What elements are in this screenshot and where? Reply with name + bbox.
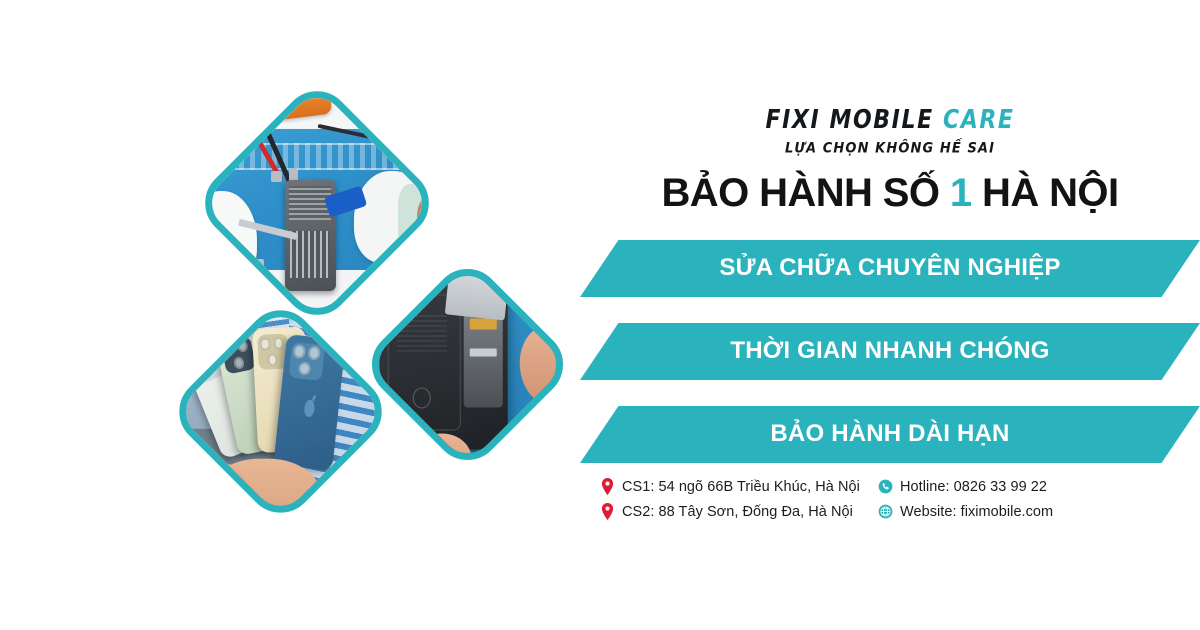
photo-repair-bench-image — [201, 87, 433, 319]
page-title-part2: HÀ NỘI — [972, 171, 1119, 215]
feature-banner-repair-label: SỬA CHỮA CHUYÊN NGHIỆP — [719, 254, 1060, 284]
feature-banner-speed-label: THỜI GIAN NHANH CHÓNG — [730, 337, 1049, 367]
feature-banner-speed[interactable]: THỜI GIAN NHANH CHÓNG — [580, 323, 1200, 380]
contact-website-text: Website: fiximobile.com — [900, 504, 1053, 520]
map-pin-icon — [600, 503, 615, 520]
brand-tagline: LỰA CHỌN KHÔNG HỀ SAI — [580, 140, 1200, 157]
page-title-number: 1 — [950, 171, 972, 215]
photo-open-iphone — [358, 255, 577, 474]
feature-banner-warranty-label: BẢO HÀNH DÀI HẠN — [770, 420, 1009, 450]
feature-banner-repair[interactable]: SỬA CHỮA CHUYÊN NGHIỆP — [580, 240, 1200, 297]
brand-logo-main: FIXI MOBILE CARE — [580, 108, 1200, 134]
photo-open-iphone-image — [368, 265, 568, 465]
contact-address-2-text: CS2: 88 Tây Sơn, Đống Đa, Hà Nội — [622, 504, 853, 520]
brand-logo-name: FIXI MOBILE — [765, 106, 942, 136]
page-title: BẢO HÀNH SỐ 1 HÀ NỘI — [580, 172, 1200, 214]
contact-address-1: CS1: 54 ngõ 66B Triều Khúc, Hà Nội — [600, 478, 878, 495]
photo-back-glass-panels-image — [175, 306, 386, 517]
content-panel: FIXI MOBILE CARE LỰA CHỌN KHÔNG HỀ SAI B… — [580, 0, 1200, 630]
contact-address-2: CS2: 88 Tây Sơn, Đống Đa, Hà Nội — [600, 503, 878, 520]
contact-address-1-text: CS1: 54 ngõ 66B Triều Khúc, Hà Nội — [622, 479, 860, 495]
photo-collage — [0, 0, 600, 630]
contact-website[interactable]: Website: fiximobile.com — [878, 503, 1200, 520]
page-title-part1: BẢO HÀNH SỐ — [662, 171, 950, 215]
contact-hotline-text: Hotline: 0826 33 99 22 — [900, 479, 1047, 495]
contact-hotline[interactable]: Hotline: 0826 33 99 22 — [878, 478, 1200, 495]
brand-logo: FIXI MOBILE CARE LỰA CHỌN KHÔNG HỀ SAI — [580, 110, 1200, 156]
phone-icon — [878, 478, 893, 495]
globe-icon — [878, 503, 893, 520]
photo-back-glass-panels — [165, 296, 396, 527]
feature-banner-warranty[interactable]: BẢO HÀNH DÀI HẠN — [580, 406, 1200, 463]
contact-info: CS1: 54 ngõ 66B Triều Khúc, Hà Nội Hotli… — [600, 478, 1200, 520]
map-pin-icon — [600, 478, 615, 495]
photo-repair-bench — [191, 77, 443, 329]
banner-canvas: FIXI MOBILE CARE LỰA CHỌN KHÔNG HỀ SAI B… — [0, 0, 1200, 630]
feature-banner-list: SỬA CHỮA CHUYÊN NGHIỆP THỜI GIAN NHANH C… — [580, 240, 1200, 489]
brand-logo-care: CARE — [943, 106, 1015, 136]
